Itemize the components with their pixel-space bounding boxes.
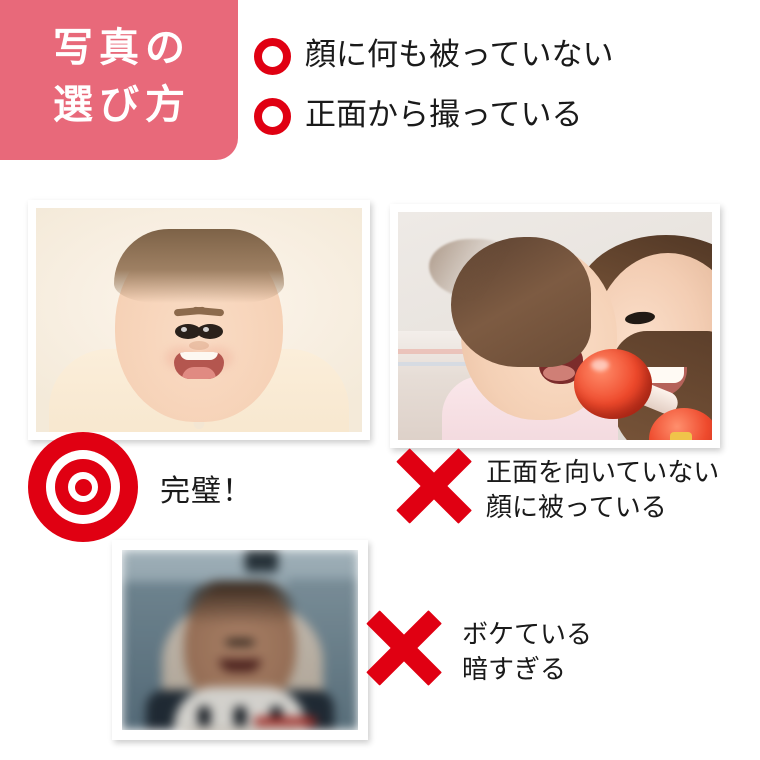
bullseye-ring-2 xyxy=(46,450,120,524)
bullseye-ring-4 xyxy=(68,472,98,502)
verdict-bad-quality-label: ボケている 暗すぎる xyxy=(462,617,592,686)
section-title-banner: 写真の 選び方 xyxy=(0,0,238,160)
toy-rattle-ball xyxy=(574,349,652,419)
red-x-icon xyxy=(398,450,470,522)
rule-item-1-label: 顔に何も被っていない xyxy=(305,39,613,73)
bullseye-ring-3 xyxy=(55,459,111,515)
verdict-bad-direction-label: 正面を向いていない 顔に被っている xyxy=(486,455,719,524)
rule-item-2: 正面から撮っている xyxy=(254,86,754,146)
photo-good-example xyxy=(28,200,370,440)
baby-hair xyxy=(185,581,295,625)
bullseye-center xyxy=(75,479,92,496)
verdict-bad-quality-line-2: 暗すぎる xyxy=(462,652,592,687)
photo-bad-direction-image xyxy=(398,212,712,440)
baby-bib-accent xyxy=(254,717,315,726)
baby-eyebrow-right xyxy=(192,307,224,317)
baby-nose xyxy=(189,341,209,350)
verdict-good-line-1: 完璧！ xyxy=(160,466,253,510)
photo-good-image xyxy=(36,208,362,432)
rules-list: 顔に何も被っていない 正面から撮っている xyxy=(254,26,754,146)
banner-title-line-2: 選び方 xyxy=(47,77,191,134)
verdict-bad-quality-line-1: ボケている xyxy=(462,617,592,652)
baby-mouth xyxy=(219,659,261,672)
baby-eye-right xyxy=(197,324,223,339)
rule-item-2-label: 正面から撮っている xyxy=(305,99,582,133)
photo-bad-quality-image xyxy=(122,550,358,730)
red-circle-icon xyxy=(254,98,291,135)
baby-hair xyxy=(114,229,284,303)
background-dark-object xyxy=(245,550,278,572)
verdict-bad-direction-line-2: 顔に被っている xyxy=(486,490,719,525)
rule-item-1: 顔に何も被っていない xyxy=(254,26,754,86)
baby-mouth xyxy=(174,352,224,379)
verdict-bad-direction-line-1: 正面を向いていない xyxy=(486,455,719,490)
bib-dot xyxy=(197,706,210,726)
photo-bad-quality-example xyxy=(112,540,368,740)
verdict-good-label: 完璧！ xyxy=(160,466,253,510)
photo-bad-direction-example xyxy=(390,204,720,448)
bullseye-target-icon xyxy=(28,432,138,542)
bib-dot xyxy=(233,706,246,726)
red-x-icon xyxy=(368,612,440,684)
banner-title-line-1: 写真の xyxy=(47,20,191,77)
blur-layer xyxy=(122,550,358,730)
red-circle-icon xyxy=(254,38,291,75)
